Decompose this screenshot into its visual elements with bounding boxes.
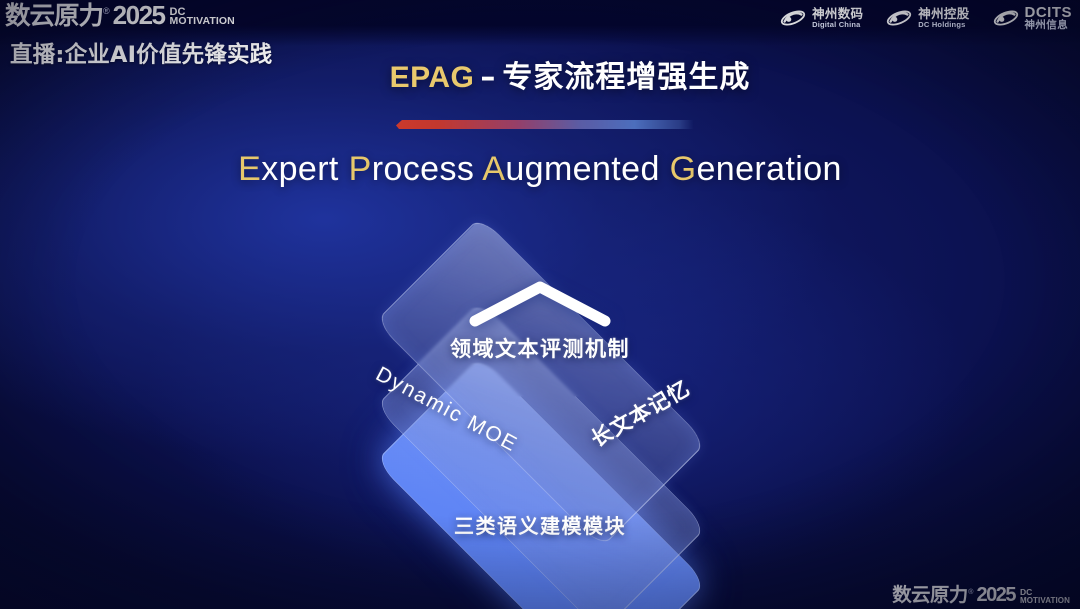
partner-text-block: 神州数码 Digital China bbox=[812, 8, 863, 28]
presentation-slide: 数云原力 ® 2025 DC MOTIVATION 直播:企业AI价值先锋实践 … bbox=[0, 0, 1080, 609]
diagram-label-bottom: 三类语义建模模块 bbox=[454, 510, 626, 539]
swirl-icon bbox=[779, 7, 807, 29]
title-acronym: EPAG bbox=[390, 61, 475, 94]
brand-name-cn: 数云原力 bbox=[5, 3, 103, 28]
partner-text-block: DCITS 神州信息 bbox=[1025, 5, 1073, 31]
brand-motivation-text: MOTIVATION bbox=[170, 17, 235, 27]
footer-brand-watermark: 数云原力 ® 2025 DC MOTIVATION bbox=[893, 585, 1070, 605]
partner-name-en: Digital China bbox=[812, 21, 863, 29]
chevron-up-icon bbox=[465, 275, 615, 336]
diagram-label-top: 领域文本评测机制 bbox=[450, 333, 630, 363]
header-left-block: 数云原力 ® 2025 DC MOTIVATION 直播:企业AI价值先锋实践 bbox=[6, 2, 272, 69]
subtitle-rest-generation: eneration bbox=[696, 150, 841, 188]
partner-name-cn: 神州数码 bbox=[812, 8, 863, 21]
partner-logo-digital-china: 神州数码 Digital China bbox=[779, 7, 863, 29]
subtitle-rest-process: rocess bbox=[372, 150, 475, 188]
partner-text-block: 神州控股 DC Holdings bbox=[918, 8, 969, 28]
partner-name-en: DC Holdings bbox=[918, 21, 969, 29]
watermark-registered-mark: ® bbox=[968, 589, 973, 596]
partner-name-cn: 神州控股 bbox=[918, 8, 969, 21]
watermark-name-cn: 数云原力 bbox=[893, 586, 968, 605]
swirl-icon bbox=[992, 7, 1020, 29]
subtitle-cap-a: A bbox=[482, 150, 505, 188]
brand-year: 2025 bbox=[113, 2, 165, 28]
title-chinese: 专家流程增强生成 bbox=[502, 60, 750, 95]
subtitle-cap-g: G bbox=[670, 150, 697, 188]
subtitle-rest-augmented: ugmented bbox=[505, 150, 659, 188]
subtitle-rest-expert: xpert bbox=[261, 150, 339, 188]
watermark-year: 2025 bbox=[976, 585, 1015, 605]
slide-subtitle: Expert Process Augmented Generation bbox=[0, 150, 1080, 189]
partner-name-en: 神州信息 bbox=[1025, 20, 1073, 31]
partner-logo-dc-holdings: 神州控股 DC Holdings bbox=[885, 7, 969, 29]
watermark-motivation-text: MOTIVATION bbox=[1020, 597, 1070, 604]
title-dash: – bbox=[480, 60, 496, 95]
brand-dc-motivation: DC MOTIVATION bbox=[170, 7, 235, 27]
title-divider bbox=[396, 120, 694, 129]
watermark-dc-motivation: DC MOTIVATION bbox=[1020, 589, 1070, 604]
registered-mark: ® bbox=[103, 7, 110, 16]
swirl-icon bbox=[885, 7, 913, 29]
subtitle-cap-e: E bbox=[238, 150, 261, 188]
partner-logo-dcits: DCITS 神州信息 bbox=[992, 5, 1073, 31]
partner-name-cn: DCITS bbox=[1025, 5, 1073, 20]
brand-logo: 数云原力 ® 2025 DC MOTIVATION bbox=[6, 2, 272, 28]
partner-logo-bar: 神州数码 Digital China 神州控股 DC Holdings bbox=[779, 5, 1072, 31]
subtitle-cap-p: P bbox=[349, 150, 372, 188]
live-stream-label: 直播:企业AI价值先锋实践 bbox=[10, 37, 272, 69]
